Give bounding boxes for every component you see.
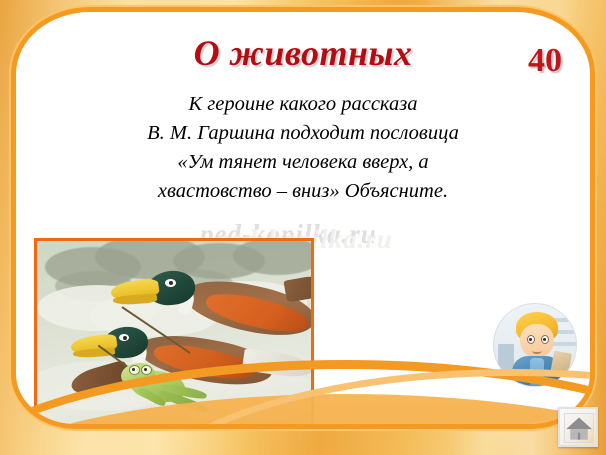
question-line-3: «Ум тянет человека вверх, а — [56, 148, 550, 177]
question-line-1: К героине какого рассказа — [56, 90, 550, 119]
avatar-pupil — [529, 338, 532, 341]
illustration-image — [37, 241, 311, 424]
home-button-inner — [564, 413, 594, 443]
house-icon — [565, 414, 593, 442]
avatar-pupil — [543, 338, 546, 341]
home-button[interactable] — [558, 407, 598, 447]
illustration-frame — [34, 238, 314, 424]
score-badge: 40 — [528, 44, 562, 78]
question-line-2: В. М. Гаршина подходит пословица — [56, 119, 550, 148]
duck-pupil — [123, 336, 127, 340]
question-line-4: хвастовство – вниз» Объясните. — [56, 177, 550, 206]
quiz-slide: О животных 40 К героине какого рассказа … — [0, 0, 606, 455]
frog-pupil — [132, 368, 135, 371]
duck-pupil — [169, 281, 173, 285]
avatar-shirt — [530, 358, 544, 386]
question-text: К героине какого рассказа В. М. Гаршина … — [56, 90, 550, 206]
avatar-mouth — [532, 348, 542, 354]
page-title: О животных — [16, 32, 590, 74]
content-panel: О животных 40 К героине какого рассказа … — [16, 12, 590, 424]
frog-pupil — [144, 368, 147, 371]
avatar — [494, 304, 576, 386]
